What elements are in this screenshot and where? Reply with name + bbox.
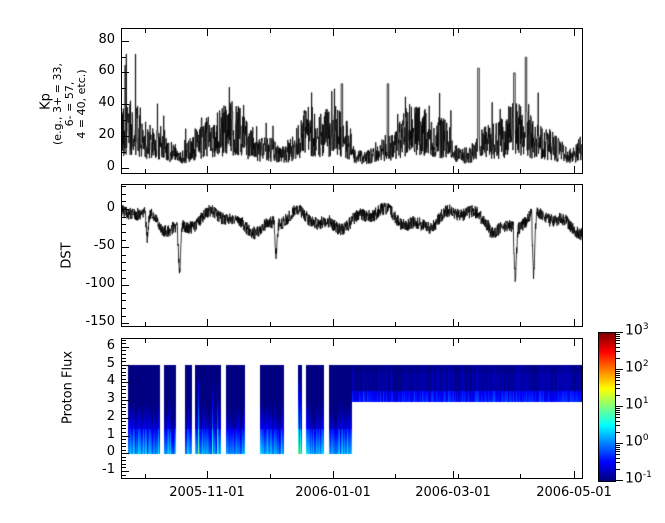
axis-tick xyxy=(616,451,620,452)
axis-tick xyxy=(616,432,620,433)
kp-panel-frame xyxy=(121,28,583,174)
axis-tick xyxy=(616,358,620,359)
axis-tick xyxy=(616,447,620,448)
axis-tick xyxy=(616,449,620,450)
axis-tick xyxy=(616,380,620,381)
proton-flux-spectrogram xyxy=(122,339,582,478)
colorbar-tick-label: 10-1 xyxy=(625,470,652,487)
axis-tick xyxy=(616,443,623,444)
axis-tick xyxy=(616,421,620,422)
axis-tick xyxy=(616,408,620,409)
kp-axis-sublabel-line-2: 4 = 40, etc.) xyxy=(76,44,88,164)
colorbar-tick-mantissa: 10 xyxy=(625,323,643,339)
colorbar-gradient xyxy=(598,332,616,482)
colorbar-tick-exponent: 0 xyxy=(643,433,649,443)
colorbar-tick-label: 101 xyxy=(625,396,649,413)
axis-tick xyxy=(616,469,620,470)
proton-flux-axis-label: Proton Flux xyxy=(61,338,76,438)
figure-container: Kp (e.g., 3+ = 33,6- = 57,4 = 40, etc.) … xyxy=(0,0,665,523)
axis-tick xyxy=(616,375,620,376)
dst-panel-frame xyxy=(121,184,583,327)
colorbar-tick-label: 102 xyxy=(625,359,649,376)
axis-tick xyxy=(616,480,623,481)
axis-tick xyxy=(616,410,620,411)
axis-tick xyxy=(616,377,620,378)
kp-series-plot xyxy=(122,29,582,173)
axis-tick xyxy=(616,373,620,374)
axis-tick xyxy=(616,384,620,385)
colorbar-tick-mantissa: 10 xyxy=(625,434,643,450)
axis-tick xyxy=(616,388,620,389)
axis-tick xyxy=(616,462,620,463)
axis-tick xyxy=(616,334,620,335)
colorbar-tick-exponent: 2 xyxy=(643,359,649,369)
axis-tick xyxy=(616,332,623,333)
axis-tick xyxy=(616,414,620,415)
axis-tick xyxy=(616,406,623,407)
colorbar-tick-label: 103 xyxy=(625,322,649,339)
colorbar-tick-label: 100 xyxy=(625,433,649,450)
axis-tick xyxy=(616,458,620,459)
axis-tick xyxy=(616,340,620,341)
axis-tick xyxy=(616,371,620,372)
xtick-label: 2006-03-01 xyxy=(398,485,508,500)
dst-ytick-label: 0 xyxy=(55,200,115,215)
axis-tick xyxy=(616,417,620,418)
colorbar-tick-mantissa: 10 xyxy=(625,471,643,487)
axis-tick xyxy=(616,369,623,370)
xtick-label: 2006-05-01 xyxy=(519,485,629,500)
axis-tick xyxy=(616,412,620,413)
axis-tick xyxy=(616,395,620,396)
colorbar-tick-mantissa: 10 xyxy=(625,360,643,376)
axis-tick xyxy=(616,351,620,352)
axis-tick xyxy=(616,336,620,337)
axis-tick xyxy=(616,425,620,426)
proton-flux-ytick-label: 0 xyxy=(55,444,115,459)
axis-tick xyxy=(616,445,620,446)
dst-series-plot xyxy=(122,185,582,326)
dst-ytick-label: -150 xyxy=(55,314,115,329)
dst-axis-label: DST xyxy=(60,226,75,286)
proton-flux-panel-frame xyxy=(121,338,583,479)
axis-tick xyxy=(616,343,620,344)
proton-flux-ytick-label: -1 xyxy=(55,462,115,477)
colorbar-tick-exponent: -1 xyxy=(643,470,652,480)
xtick-label: 2005-11-01 xyxy=(152,485,262,500)
axis-tick xyxy=(616,454,620,455)
colorbar-tick-exponent: 3 xyxy=(643,322,649,332)
xtick-label: 2006-01-01 xyxy=(278,485,388,500)
colorbar-tick-exponent: 1 xyxy=(643,396,649,406)
axis-tick xyxy=(616,338,620,339)
kp-axis-sublabel: (e.g., 3+ = 33,6- = 57,4 = 40, etc.) xyxy=(52,44,88,164)
axis-tick xyxy=(616,347,620,348)
colorbar-tick-mantissa: 10 xyxy=(625,397,643,413)
